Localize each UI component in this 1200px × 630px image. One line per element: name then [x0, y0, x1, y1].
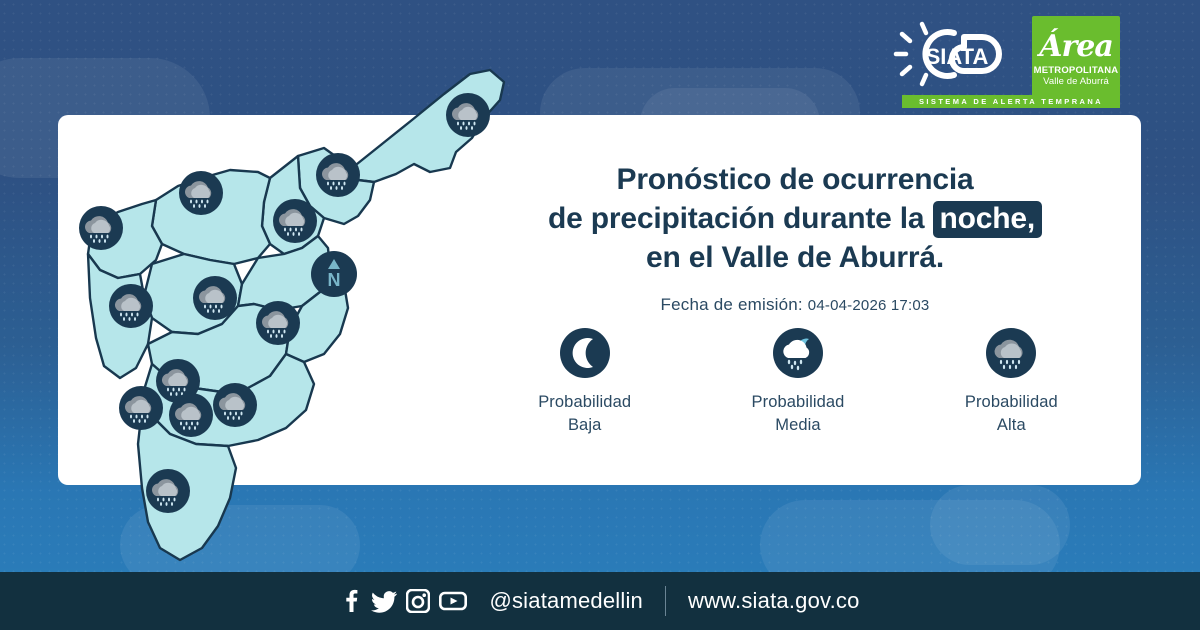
map-marker-sabaneta[interactable] — [168, 392, 214, 438]
headline-line-2: de precipitación durante la noche, — [470, 199, 1120, 238]
map-marker-girardota[interactable] — [315, 152, 361, 198]
map-marker-bello-norte[interactable] — [78, 205, 124, 251]
legend-baja-line1: Probabilidad — [495, 391, 675, 414]
svg-text:SIATA: SIATA — [926, 44, 989, 69]
twitter-icon[interactable] — [371, 589, 397, 613]
map-marker-envigado[interactable] — [212, 382, 258, 428]
map-marker-copacabana[interactable] — [272, 198, 318, 244]
legend-media-line2: Media — [708, 414, 888, 437]
emission-date-value: 04-04-2026 17:03 — [808, 297, 930, 314]
legend-item-alta: Probabilidad Alta — [921, 328, 1101, 438]
alerta-temprana-bar: SISTEMA DE ALERTA TEMPRANA — [902, 95, 1120, 108]
svg-text:N: N — [328, 270, 341, 290]
map-marker-barbosa[interactable] — [445, 92, 491, 138]
legend-label-media: Probabilidad Media — [708, 391, 888, 438]
page-title: Pronóstico de ocurrencia de precipitació… — [470, 160, 1120, 277]
probability-legend: Probabilidad Baja Probabilidad Media — [478, 328, 1118, 438]
logo-group: SIATA Área METROPOLITANA Valle de Aburrá — [892, 16, 1120, 100]
siata-logo: SIATA — [892, 16, 1022, 94]
area-script-text: Área — [1039, 32, 1113, 62]
cloud-heavy-rain-icon — [986, 328, 1036, 378]
map-marker-san-jeronimo[interactable] — [108, 283, 154, 329]
compass-rose: N — [310, 250, 358, 298]
footer-divider — [665, 586, 666, 616]
map-marker-itagui[interactable] — [118, 385, 164, 431]
instagram-icon[interactable] — [406, 589, 430, 613]
legend-label-baja: Probabilidad Baja — [495, 391, 675, 438]
youtube-icon[interactable] — [439, 590, 467, 612]
emission-date-label: Fecha de emisión: — [661, 295, 803, 314]
headline-highlight-noche: noche, — [933, 201, 1042, 238]
map-marker-san-pedro[interactable] — [178, 170, 224, 216]
facebook-icon[interactable] — [340, 589, 362, 613]
website-url[interactable]: www.siata.gov.co — [688, 588, 860, 614]
footer-bar: @siatamedellin www.siata.gov.co — [0, 572, 1200, 630]
headline-line-2-pre: de precipitación durante la — [548, 202, 924, 235]
legend-alta-line1: Probabilidad — [921, 391, 1101, 414]
area-metropolitana-logo: Área METROPOLITANA Valle de Aburrá — [1032, 16, 1120, 100]
area-line1: METROPOLITANA — [1034, 65, 1119, 76]
map-marker-caldas[interactable] — [145, 468, 191, 514]
legend-label-alta: Probabilidad Alta — [921, 391, 1101, 438]
area-line2: Valle de Aburrá — [1043, 76, 1109, 87]
legend-media-line1: Probabilidad — [708, 391, 888, 414]
cloud-moon-rain-icon — [773, 328, 823, 378]
social-handle[interactable]: @siatamedellin — [489, 588, 643, 614]
moon-icon — [560, 328, 610, 378]
legend-item-media: Probabilidad Media — [708, 328, 888, 438]
legend-alta-line2: Alta — [921, 414, 1101, 437]
social-icon-group — [340, 589, 467, 613]
headline-line-3: en el Valle de Aburrá. — [470, 238, 1120, 277]
background-cloud-5 — [930, 485, 1070, 565]
forecast-text-block: Pronóstico de ocurrencia de precipitació… — [470, 160, 1120, 315]
legend-baja-line2: Baja — [495, 414, 675, 437]
legend-item-baja: Probabilidad Baja — [495, 328, 675, 438]
map-marker-bello[interactable] — [192, 275, 238, 321]
emission-date: Fecha de emisión: 04-04-2026 17:03 — [470, 295, 1120, 315]
alerta-temprana-text: SISTEMA DE ALERTA TEMPRANA — [919, 97, 1103, 106]
map-marker-medellin-nor[interactable] — [255, 300, 301, 346]
headline-line-1: Pronóstico de ocurrencia — [470, 160, 1120, 199]
